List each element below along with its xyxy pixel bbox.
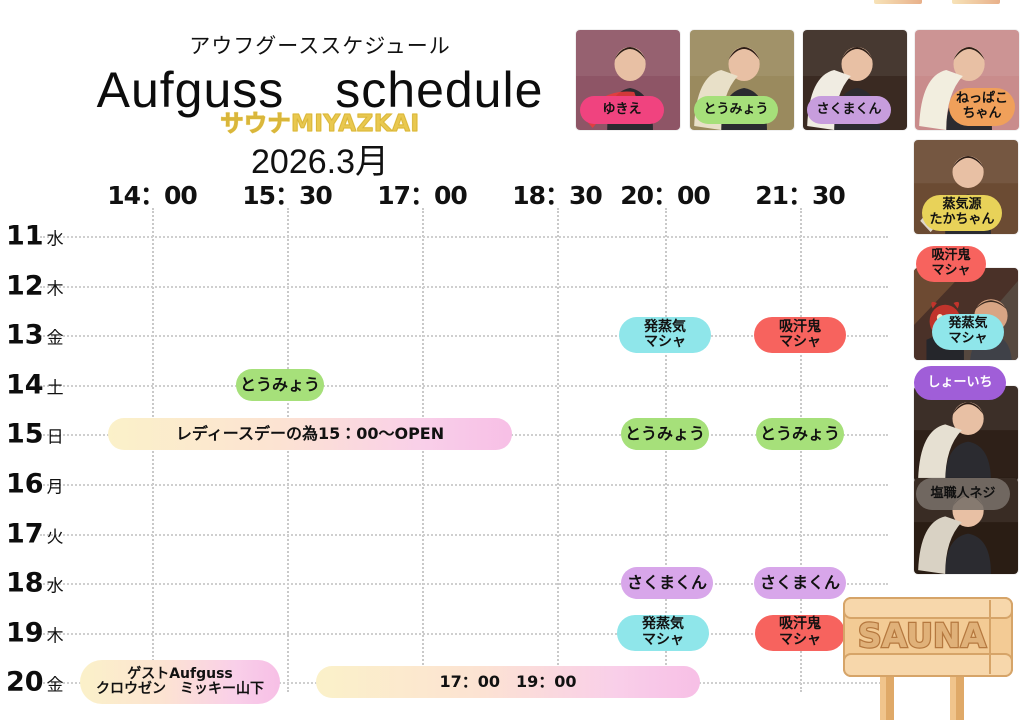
event-line-1: 吸汗鬼 xyxy=(779,617,821,633)
date-weekday: 金 xyxy=(47,676,64,696)
staff-name-tag: ゆきえ xyxy=(580,96,664,124)
event-line-1: 発蒸気 xyxy=(644,320,686,336)
staff-name-line-1: 蒸気源 xyxy=(942,198,981,213)
time-label-1: 15：30 xyxy=(242,176,332,212)
schedule-event-e1[interactable]: 発蒸気マシャ xyxy=(619,317,711,353)
event-line-2: マシャ xyxy=(779,633,821,649)
gridline-horizontal-1 xyxy=(40,286,888,288)
staff-card-s4[interactable]: ねっぱこちゃん xyxy=(915,30,1019,130)
date-number: 17 xyxy=(6,518,44,549)
staff-name-line-1: とうみょう xyxy=(703,103,768,118)
date-row-16: 16月 xyxy=(6,469,64,500)
date-row-18: 18水 xyxy=(6,568,64,599)
date-number: 11 xyxy=(6,221,44,252)
date-row-14: 14土 xyxy=(6,369,64,400)
date-weekday: 土 xyxy=(47,378,64,398)
schedule-event-e8[interactable]: さくまくん xyxy=(754,567,846,599)
clipped-strip-right xyxy=(952,0,1000,4)
date-number: 20 xyxy=(6,667,44,698)
clipped-strip-left xyxy=(874,0,922,4)
schedule-event-e5[interactable]: とうみょう xyxy=(621,418,709,450)
time-label-3: 18：30 xyxy=(512,176,602,212)
staff-name-tag-hatsujoki: 発蒸気マシャ xyxy=(932,314,1004,350)
event-line-1: とうみょう xyxy=(240,376,320,394)
schedule-event-e11[interactable]: ゲストAufgussクロウゼン ミッキー山下 xyxy=(80,660,280,704)
date-row-12: 12木 xyxy=(6,270,64,301)
date-weekday: 木 xyxy=(47,626,64,646)
date-number: 16 xyxy=(6,469,44,500)
staff-name-line-1: ねっぱこ xyxy=(956,92,1008,107)
date-row-20: 20金 xyxy=(6,667,64,698)
time-label-5: 21：30 xyxy=(755,176,845,212)
staff-name-tag: さくまくん xyxy=(807,96,891,124)
gridline-horizontal-6 xyxy=(40,534,888,536)
staff-name-tag: しょーいち xyxy=(914,366,1006,400)
staff-name-tag: 塩職人ネジ xyxy=(916,478,1010,510)
staff-name-line-1: しょーいち xyxy=(927,376,992,391)
date-number: 18 xyxy=(6,568,44,599)
staff-name-tag-kyukanki: 吸汗鬼マシャ xyxy=(916,246,986,282)
gridline-horizontal-5 xyxy=(40,484,888,486)
date-number: 13 xyxy=(6,320,44,351)
time-label-2: 17：00 xyxy=(377,176,467,212)
gridline-horizontal-3 xyxy=(40,385,888,387)
date-weekday: 日 xyxy=(47,428,64,448)
date-number: 15 xyxy=(6,419,44,450)
event-line-1: とうみょう xyxy=(760,425,840,443)
date-row-11: 11水 xyxy=(6,221,64,252)
schedule-event-e10[interactable]: 吸汗鬼マシャ xyxy=(755,615,845,651)
staff-card-r4[interactable]: しょーいち xyxy=(914,366,1018,482)
date-weekday: 火 xyxy=(47,527,64,547)
event-line-1: ゲストAufguss xyxy=(127,667,233,683)
staff-name-line-1: 吸汗鬼 xyxy=(931,249,970,264)
event-line-1: 発蒸気 xyxy=(642,617,684,633)
schedule-event-e6[interactable]: とうみょう xyxy=(756,418,844,450)
staff-card-s2[interactable]: とうみょう xyxy=(690,30,794,130)
staff-card-r5[interactable]: 塩職人ネジ xyxy=(914,474,1018,574)
event-line-2: マシャ xyxy=(779,335,821,351)
gridline-horizontal-0 xyxy=(40,236,888,238)
staff-name-line-2: マシャ xyxy=(948,332,987,347)
staff-card-s1[interactable]: ゆきえ xyxy=(576,30,680,130)
sauna-signboard: SAUNA xyxy=(838,588,1018,720)
event-line-1: とうみょう xyxy=(625,425,705,443)
event-line-1: さくまくん xyxy=(760,574,840,592)
event-line-1: 吸汗鬼 xyxy=(779,320,821,336)
staff-name-tag: 蒸気源たかちゃん xyxy=(922,195,1002,231)
staff-photo-wrap xyxy=(914,386,1018,482)
schedule-event-e2[interactable]: 吸汗鬼マシャ xyxy=(754,317,846,353)
event-line-1: 17：00 19：00 xyxy=(439,673,576,691)
date-weekday: 金 xyxy=(47,329,64,349)
staff-card-s3[interactable]: さくまくん xyxy=(803,30,907,130)
event-line-1: レディースデーの為15：00〜OPEN xyxy=(176,425,444,443)
schedule-event-e4[interactable]: レディースデーの為15：00〜OPEN xyxy=(108,418,512,450)
date-row-19: 19木 xyxy=(6,617,64,648)
event-line-2: マシャ xyxy=(642,633,684,649)
gridline-vertical-3 xyxy=(557,208,559,692)
staff-name-line-1: ゆきえ xyxy=(602,103,641,118)
date-number: 14 xyxy=(6,369,44,400)
date-weekday: 木 xyxy=(47,279,64,299)
schedule-event-e3[interactable]: とうみょう xyxy=(236,369,324,401)
event-line-2: クロウゼン ミッキー山下 xyxy=(96,682,264,698)
date-weekday: 月 xyxy=(47,478,64,498)
schedule-event-e9[interactable]: 発蒸気マシャ xyxy=(617,615,709,651)
date-row-13: 13金 xyxy=(6,320,64,351)
sauna-sign-icon: SAUNA xyxy=(838,588,1018,720)
staff-name-line-1: 発蒸気 xyxy=(948,317,987,332)
schedule-event-e12[interactable]: 17：00 19：00 xyxy=(316,666,700,698)
staff-name-line-1: 塩職人ネジ xyxy=(930,487,995,502)
time-label-0: 14：00 xyxy=(107,176,197,212)
date-row-17: 17火 xyxy=(6,518,64,549)
event-line-2: マシャ xyxy=(644,335,686,351)
date-weekday: 水 xyxy=(47,230,64,250)
schedule-poster: アウフグーススケジュール Aufguss schedule サウナMIYAZKA… xyxy=(0,0,1024,724)
staff-name-line-1: さくまくん xyxy=(816,103,881,118)
date-row-15: 15日 xyxy=(6,419,64,450)
staff-card-r1[interactable]: 蒸気源たかちゃん xyxy=(914,140,1018,234)
date-number: 12 xyxy=(6,270,44,301)
staff-name-line-2: マシャ xyxy=(931,264,970,279)
brand-logo: サウナMIYAZKAI xyxy=(140,104,500,138)
date-weekday: 水 xyxy=(47,577,64,597)
staff-name-line-2: たかちゃん xyxy=(929,213,994,228)
date-number: 19 xyxy=(6,617,44,648)
staff-name-line-2: ちゃん xyxy=(962,107,1001,122)
schedule-event-e7[interactable]: さくまくん xyxy=(621,567,713,599)
svg-text:SAUNA: SAUNA xyxy=(858,616,987,655)
staff-name-tag: ねっぱこちゃん xyxy=(949,88,1015,126)
staff-name-tag: とうみょう xyxy=(694,96,778,124)
event-line-1: さくまくん xyxy=(627,574,707,592)
staff-card-masha[interactable]: 吸汗鬼マシャ発蒸気マシャ xyxy=(914,246,1018,360)
staff-photo xyxy=(914,386,1018,482)
time-label-4: 20：00 xyxy=(620,176,710,212)
